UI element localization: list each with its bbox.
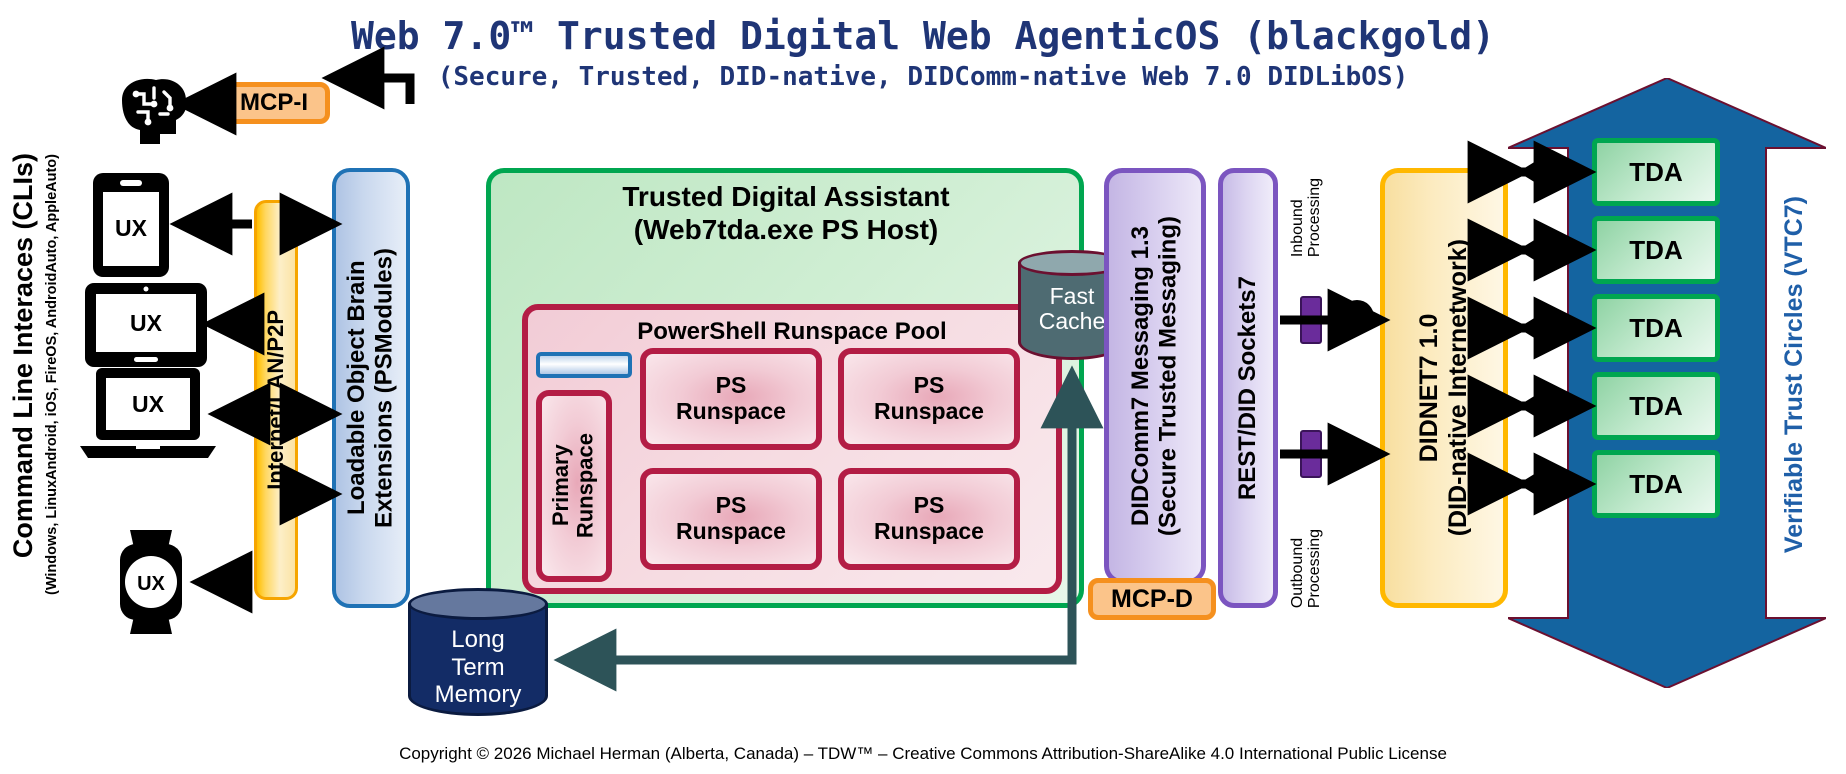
tda-node[interactable]: TDA [1592,216,1720,284]
ltm-top [408,588,548,620]
tda-node[interactable]: TDA [1592,372,1720,440]
cli-axis-title-text: Command Line Interaces (CLIs) [8,153,39,558]
psmodules-column[interactable]: Loadable Object BrainExtensions (PSModul… [332,168,410,608]
long-term-memory-datastore[interactable]: LongTermMemory [408,588,548,728]
primary-runspace-label: PrimaryRunspace [549,433,598,538]
mcp-i-badge[interactable]: MCP-I [218,82,330,124]
inbound-gate-icon [1300,296,1322,344]
tablet-icon: UX [82,280,210,370]
cli-axis-subtitle: (Windows, LinuxAndroid, iOS, FireOS, And… [44,140,60,610]
ps-runspace-label: PSRunspace [874,493,984,545]
long-term-memory-label: LongTermMemory [408,626,548,709]
rest-did-sockets7-column[interactable]: REST/DID Sockets7 [1218,168,1278,608]
primary-runspace[interactable]: PrimaryRunspace [536,390,612,582]
diagram-canvas: Web 7.0™ Trusted Digital Web AgenticOS (… [0,0,1846,774]
didcomm7-messaging-column[interactable]: DIDComm7 Messaging 1.3(Secure Trusted Me… [1104,168,1206,584]
cli-axis-subtitle-text: (Windows, LinuxAndroid, iOS, FireOS, And… [44,154,60,595]
svg-text:UX: UX [132,391,165,417]
psmodules-label: Loadable Object BrainExtensions (PSModul… [343,248,398,528]
cli-axis-title: Command Line Interaces (CLIs) [8,96,39,616]
ps-runspace[interactable]: PSRunspace [838,468,1020,570]
ps-runspace-label: PSRunspace [676,373,786,425]
svg-text:UX: UX [115,215,148,241]
laptop-icon: UX [78,366,218,462]
tda-node[interactable]: TDA [1592,138,1720,206]
ps-runspace[interactable]: PSRunspace [640,468,822,570]
tda-node[interactable]: TDA [1592,450,1720,518]
brain-icon [108,74,194,152]
watch-icon: UX [106,528,196,636]
ps-runspace-label: PSRunspace [874,373,984,425]
vtc7-axis-label: Verifiable Trust Circles (VTC7) [1780,150,1809,600]
ps-runspace[interactable]: PSRunspace [640,348,822,450]
rest-did-sockets7-label: REST/DID Sockets7 [1234,276,1262,500]
didcomm7-label: DIDComm7 Messaging 1.3(Secure Trusted Me… [1127,216,1182,536]
tda-node[interactable]: TDA [1592,294,1720,362]
copyright-footer: Copyright © 2026 Michael Herman (Alberta… [0,744,1846,764]
ps-runspace[interactable]: PSRunspace [838,348,1020,450]
svg-text:UX: UX [137,573,165,595]
outbound-gate-icon [1300,430,1322,478]
inbound-endpoint-dot [1340,300,1374,334]
ps-runspace-label: PSRunspace [676,493,786,545]
internet-lan-p2p-column[interactable]: Internet/LAN/P2P [254,200,298,600]
phone-icon: UX [90,170,172,280]
runspace-progress-bar[interactable] [536,352,632,378]
outbound-processing-label: OutboundProcessing [1290,458,1324,608]
didnet7-label: DIDNET7 1.0(DID-native Internetwork) [1415,239,1473,536]
mcp-d-badge[interactable]: MCP-D [1088,578,1216,620]
tda-panel-title: Trusted Digital Assistant(Web7tda.exe PS… [496,180,1076,246]
svg-text:UX: UX [130,310,163,336]
pool-title: PowerShell Runspace Pool [522,318,1062,346]
didnet7-column[interactable]: DIDNET7 1.0(DID-native Internetwork) [1380,168,1508,608]
page-title: Web 7.0™ Trusted Digital Web AgenticOS (… [0,14,1846,58]
internet-lan-p2p-label: Internet/LAN/P2P [263,310,289,490]
